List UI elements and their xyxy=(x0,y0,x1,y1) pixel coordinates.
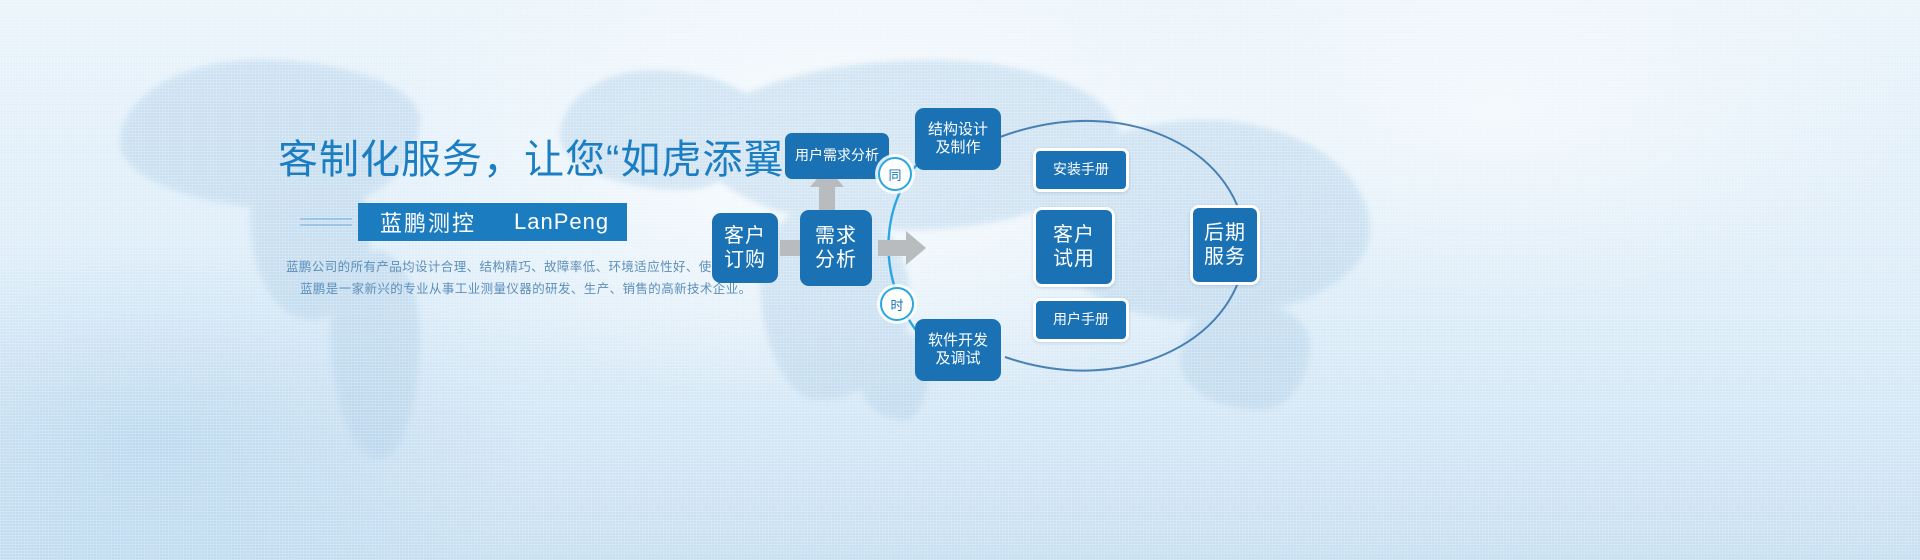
node-label-line2: 试用 xyxy=(1053,247,1095,271)
node-label-line2: 服务 xyxy=(1204,245,1246,269)
node-label-line2: 及调试 xyxy=(935,350,980,368)
node-software-development[interactable]: 软件开发 及调试 xyxy=(915,319,1001,381)
node-label-line1: 客户 xyxy=(724,224,766,248)
node-structure-design[interactable]: 结构设计 及制作 xyxy=(915,108,1001,170)
process-flow-diagram: 用户需求分析 客户 订购 需求 分析 结构设计 及制作 软件开发 及调试 安装手… xyxy=(700,95,1880,415)
badge-shi: 时 xyxy=(880,287,914,321)
node-label: 用户手册 xyxy=(1053,311,1109,328)
node-label-line1: 结构设计 xyxy=(928,121,988,139)
node-label-line1: 需求 xyxy=(815,224,857,248)
node-label: 安装手册 xyxy=(1053,161,1109,178)
node-label-line2: 分析 xyxy=(815,248,857,272)
node-customer-order[interactable]: 客户 订购 xyxy=(712,213,778,283)
decorative-lines-icon xyxy=(300,218,352,226)
node-user-manual[interactable]: 用户手册 xyxy=(1033,298,1129,342)
banner-stage: 客制化服务，让您“如虎添翼” 蓝鹏测控 LanPeng 蓝鹏公司的所有产品均设计… xyxy=(0,0,1920,560)
node-label-line1: 客户 xyxy=(1053,223,1095,247)
brand-name-en: LanPeng xyxy=(514,209,609,235)
node-customer-trial[interactable]: 客户 试用 xyxy=(1033,207,1115,287)
brand-name-cn: 蓝鹏测控 xyxy=(380,206,476,238)
node-installation-manual[interactable]: 安装手册 xyxy=(1033,148,1129,192)
badge-label: 时 xyxy=(890,295,903,314)
brand-bar: 蓝鹏测控 LanPeng xyxy=(358,203,627,241)
node-label-line1: 后期 xyxy=(1204,221,1246,245)
description-line-2: 蓝鹏是一家新兴的专业从事工业测量仪器的研发、生产、销售的高新技术企业。 xyxy=(300,278,752,297)
node-user-requirement-analysis[interactable]: 用户需求分析 xyxy=(785,133,889,179)
brand-row: 蓝鹏测控 LanPeng xyxy=(300,203,627,241)
node-label-line1: 软件开发 xyxy=(928,332,988,350)
badge-tong: 同 xyxy=(878,157,912,191)
node-label-line2: 订购 xyxy=(724,248,766,272)
badge-label: 同 xyxy=(888,165,901,184)
node-requirement-analysis[interactable]: 需求 分析 xyxy=(800,210,872,286)
arrow-analysis-to-cycle xyxy=(878,231,926,265)
node-after-sales-service[interactable]: 后期 服务 xyxy=(1190,205,1260,285)
node-label-line2: 及制作 xyxy=(935,139,980,157)
node-label: 用户需求分析 xyxy=(795,147,879,164)
